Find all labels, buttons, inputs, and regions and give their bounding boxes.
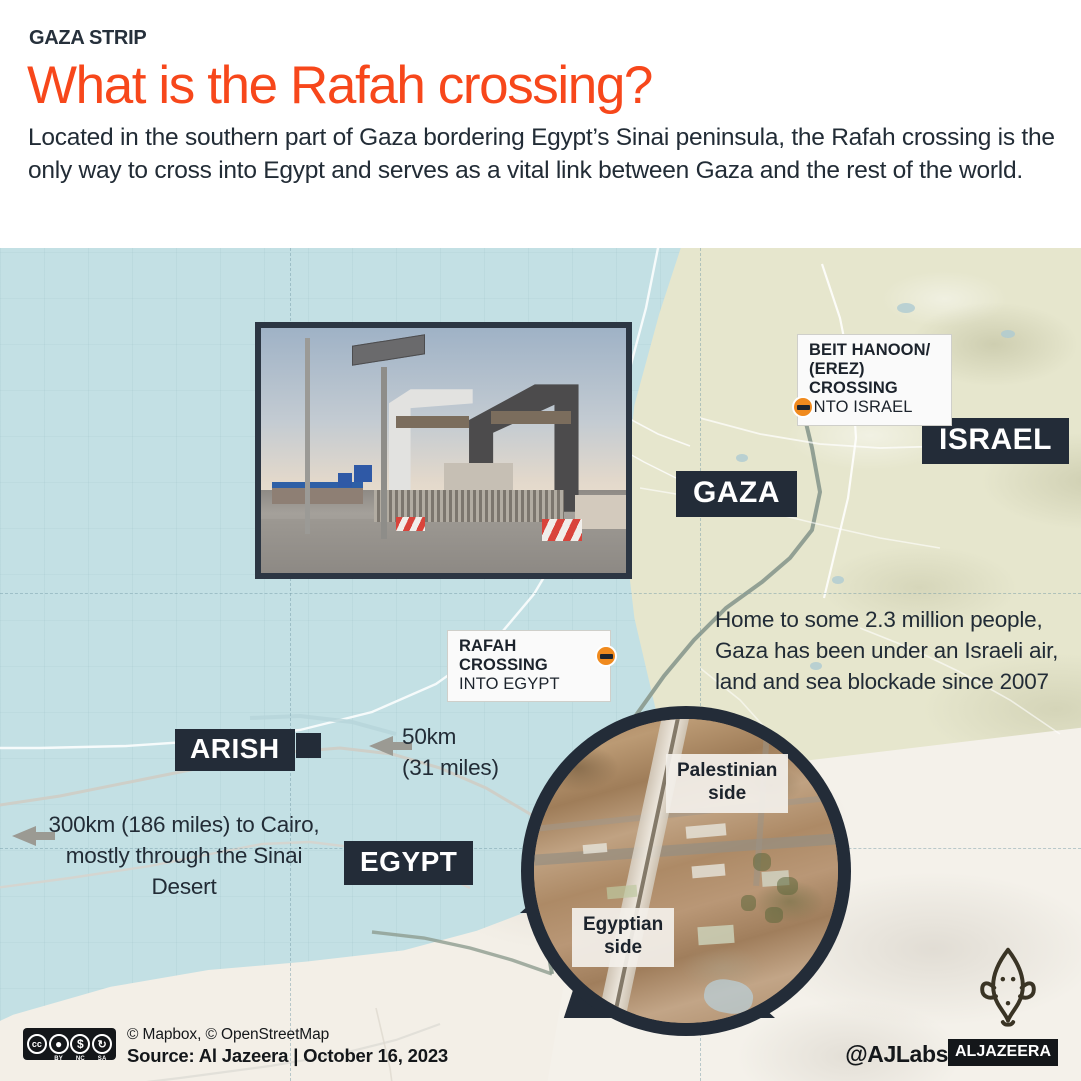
note-distance-rafah: 50km (31 miles) bbox=[402, 722, 522, 784]
kicker: GAZA STRIP bbox=[29, 27, 146, 50]
infographic-root: GAZA STRIP What is the Rafah crossing? L… bbox=[0, 0, 1081, 1081]
erez-line-3: INTO ISRAEL bbox=[809, 398, 940, 417]
cc-by-badge: ● BY bbox=[49, 1034, 69, 1054]
share-alike-icon: ↻ bbox=[98, 1038, 107, 1051]
city-marker-arish bbox=[296, 733, 321, 758]
crossing-marker-rafah-icon[interactable] bbox=[595, 645, 617, 667]
cc-by-label: BY bbox=[54, 1056, 63, 1062]
note-distance-cairo: 300km (186 miles) to Cairo, mostly throu… bbox=[48, 810, 320, 902]
photo-road-sign-2 bbox=[338, 473, 353, 488]
cc-sa-badge: ↻ SA bbox=[92, 1034, 112, 1054]
pal-line-2: side bbox=[677, 783, 777, 806]
header: GAZA STRIP What is the Rafah crossing? L… bbox=[0, 0, 1081, 248]
photo-lamp-pole-left bbox=[305, 338, 310, 534]
country-label-egypt: EGYPT bbox=[344, 841, 473, 885]
photo-barrier-left bbox=[396, 517, 425, 532]
cc-nc-badge: $ NC bbox=[70, 1034, 90, 1054]
creative-commons-license-icon[interactable]: cc ● BY $ NC ↻ SA bbox=[23, 1028, 116, 1060]
photo-road-sign-1 bbox=[354, 465, 372, 482]
source-credit: Source: Al Jazeera | October 16, 2023 bbox=[127, 1045, 448, 1067]
cc-sa-label: SA bbox=[98, 1056, 107, 1062]
callout-erez-crossing[interactable]: BEIT HANOON/ (EREZ) CROSSING INTO ISRAEL bbox=[797, 334, 952, 426]
aljazeera-logo-icon bbox=[965, 943, 1051, 1029]
page-title: What is the Rafah crossing? bbox=[27, 58, 652, 114]
satellite-vegetation bbox=[765, 907, 783, 922]
city-label-arish: ARISH bbox=[175, 729, 295, 771]
satellite-vegetation bbox=[753, 853, 771, 871]
person-icon: ● bbox=[55, 1037, 62, 1051]
note-blockade: Home to some 2.3 million people, Gaza ha… bbox=[715, 605, 1075, 697]
currency-slash-icon: $ bbox=[77, 1037, 84, 1051]
distance-rafah-line-2: (31 miles) bbox=[402, 753, 522, 784]
satellite-building bbox=[698, 924, 736, 945]
rafah-line-2: INTO EGYPT bbox=[459, 675, 599, 694]
photo-barrier-right bbox=[542, 519, 582, 541]
crossing-marker-erez-icon[interactable] bbox=[792, 396, 814, 418]
pal-line-1: Palestinian bbox=[677, 760, 777, 783]
satellite-label-palestinian-side: Palestinian side bbox=[666, 754, 788, 813]
photo-canopy-right bbox=[491, 411, 571, 423]
rafah-gate-photo bbox=[261, 328, 626, 573]
rafah-gate-photo-frame[interactable] bbox=[255, 322, 632, 579]
rafah-line-1: RAFAH CROSSING bbox=[459, 637, 599, 675]
erez-line-1: BEIT HANOON/ bbox=[809, 341, 940, 360]
erez-line-2: (EREZ) CROSSING bbox=[809, 360, 940, 398]
map-credit: © Mapbox, © OpenStreetMap bbox=[127, 1026, 329, 1044]
standfirst-text: Located in the southern part of Gaza bor… bbox=[28, 122, 1063, 188]
callout-rafah-crossing[interactable]: RAFAH CROSSING INTO EGYPT bbox=[447, 630, 611, 702]
country-label-gaza: GAZA bbox=[676, 471, 797, 517]
photo-wall bbox=[575, 495, 626, 529]
egy-line-2: side bbox=[583, 937, 663, 960]
satellite-vegetation bbox=[777, 877, 798, 895]
ajlabs-handle: @AJLabs bbox=[845, 1041, 948, 1068]
cc-badge-label: cc bbox=[32, 1039, 42, 1049]
distance-rafah-line-1: 50km bbox=[402, 722, 522, 753]
satellite-vegetation bbox=[741, 895, 756, 910]
photo-lamp-pole-center bbox=[381, 367, 387, 539]
satellite-label-egyptian-side: Egyptian side bbox=[572, 908, 674, 967]
photo-canopy-left bbox=[396, 416, 469, 428]
aljazeera-wordmark: ALJAZEERA bbox=[948, 1039, 1058, 1066]
egy-line-1: Egyptian bbox=[583, 914, 663, 937]
satellite-building bbox=[582, 843, 607, 854]
cc-nc-label: NC bbox=[76, 1056, 85, 1062]
cc-badge: cc bbox=[27, 1034, 47, 1054]
